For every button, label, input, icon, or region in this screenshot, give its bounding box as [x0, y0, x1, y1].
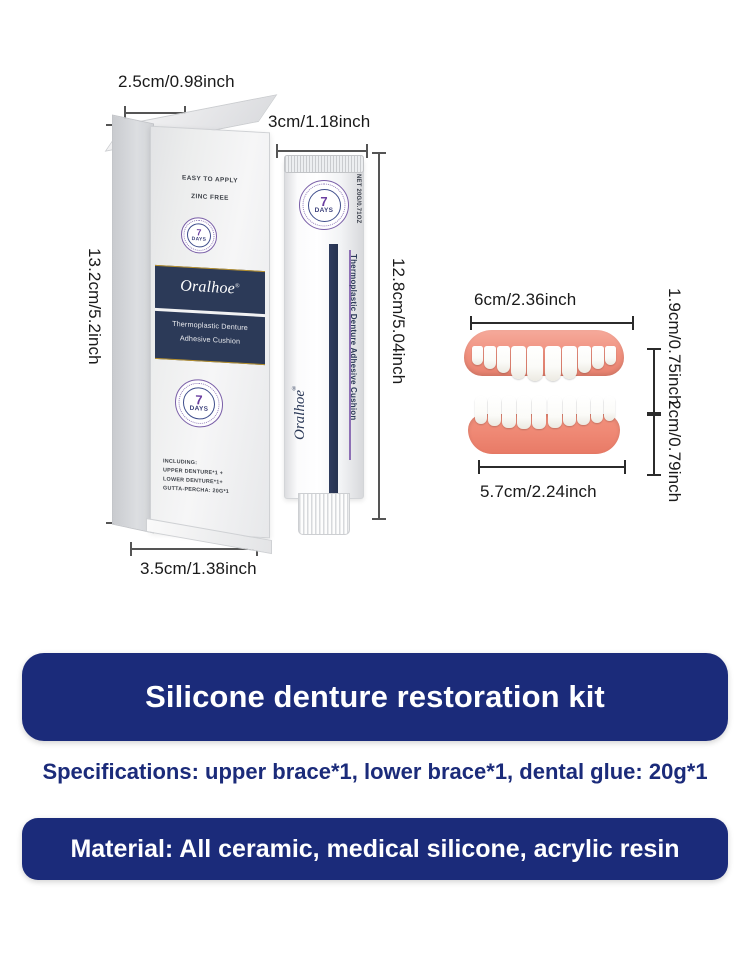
title-banner: Silicone denture restoration kit [22, 653, 728, 741]
tooth [578, 346, 591, 373]
tube-brand-mark: ® [291, 384, 297, 390]
tooth [532, 396, 546, 429]
dimension-label-denture-upper-width: 6cm/2.36inch [474, 290, 576, 310]
box-label-band: Oralhoe® Thermoplastic Denture Adhesive … [155, 265, 265, 365]
tube-cap [298, 493, 350, 535]
tooth [577, 396, 590, 425]
tooth [484, 346, 496, 369]
tooth [488, 396, 501, 426]
tooth [604, 396, 615, 421]
tooth [563, 396, 576, 426]
dimension-label-box-width: 3.5cm/1.38inch [140, 559, 257, 579]
upper-denture-veneer [464, 330, 624, 392]
box-claim-easy-to-apply: EASY TO APPLY [151, 173, 269, 187]
material-banner: Material: All ceramic, medical silicone,… [22, 818, 728, 880]
box-brand-mark: ® [235, 283, 240, 289]
tooth [517, 396, 531, 429]
tube-net-weight: NET 20G/0.71OZ [355, 174, 361, 248]
box-contents-list: INCLUDING: UPPER DENTURE*1 + LOWER DENTU… [163, 457, 263, 499]
tube-crimped-end [284, 155, 364, 173]
specifications-line: Specifications: upper brace*1, lower bra… [0, 759, 750, 785]
lower-denture-veneer [468, 396, 628, 456]
tooth [502, 396, 516, 428]
tube-product-description: Thermoplastic Denture Adhesive Cushion [349, 254, 358, 460]
tooth [548, 396, 562, 428]
lower-denture-teeth [474, 396, 616, 438]
tooth [562, 346, 577, 379]
box-subtitle-line-1: Thermoplastic Denture [155, 318, 265, 333]
seven-days-seal-icon: 7 DAYS [181, 216, 217, 254]
box-subtitle-line-2: Adhesive Cushion [155, 332, 265, 347]
tooth [527, 346, 543, 381]
tooth [511, 346, 526, 379]
seal-dotted-ring [184, 219, 215, 252]
material-banner-text: Material: All ceramic, medical silicone,… [70, 835, 679, 864]
product-photo-area: 2.5cm/0.98inch 13.2cm/5.2inch 3.5cm/1.38… [0, 0, 750, 630]
seven-days-seal-large-icon: 7 DAYS [175, 378, 223, 429]
box-band-divider [155, 308, 265, 317]
dimension-rule-denture-upper-width [470, 322, 634, 324]
tooth [475, 396, 487, 424]
title-banner-text: Silicone denture restoration kit [145, 679, 605, 715]
denture-veneers [462, 330, 632, 470]
dimension-label-box-height: 13.2cm/5.2inch [84, 248, 104, 365]
dimension-label-tube-height: 12.8cm/5.04inch [388, 258, 408, 384]
dimension-rule-tube-height [378, 152, 380, 520]
box-front-face: EASY TO APPLY ZINC FREE 7 DAYS Oralhoe® … [150, 126, 270, 539]
product-box: EASY TO APPLY ZINC FREE 7 DAYS Oralhoe® … [112, 115, 302, 545]
tooth [497, 346, 510, 373]
dimension-label-denture-lower-width: 5.7cm/2.24inch [480, 482, 597, 502]
dimension-label-box-depth: 2.5cm/0.98inch [118, 72, 235, 92]
tube-brand-name: Oralhoe® [291, 354, 309, 440]
dimension-rule-denture-upper-height [653, 348, 655, 414]
dimension-label-tube-width: 3cm/1.18inch [268, 112, 370, 132]
dimension-label-denture-upper-height: 1.9cm/0.75inch [664, 288, 684, 405]
tube-navy-stripe [329, 244, 338, 499]
adhesive-tube: Thermoplastic Denture Adhesive Cushion N… [276, 135, 372, 530]
seal-dotted-ring [303, 184, 346, 227]
box-printed-content: EASY TO APPLY ZINC FREE 7 DAYS Oralhoe® … [151, 127, 269, 538]
tube-body: Thermoplastic Denture Adhesive Cushion N… [284, 157, 364, 499]
box-claim-zinc-free: ZINC FREE [151, 191, 269, 205]
upper-denture-teeth [468, 346, 620, 390]
tooth [472, 346, 483, 365]
dimension-rule-denture-lower-height [653, 414, 655, 476]
tooth [591, 396, 603, 423]
box-brand-text: Oralhoe [180, 277, 235, 297]
tooth [605, 346, 616, 365]
tooth [545, 346, 561, 381]
tube-brand-text: Oralhoe [292, 390, 308, 440]
seal-dotted-ring [179, 382, 220, 425]
box-side-face [112, 115, 154, 534]
box-brand-name: Oralhoe® [155, 276, 265, 300]
dimension-label-denture-lower-height: 2cm/0.79inch [664, 400, 684, 502]
seven-days-seal-tube-icon: 7 DAYS [299, 180, 349, 230]
tooth [592, 346, 604, 369]
